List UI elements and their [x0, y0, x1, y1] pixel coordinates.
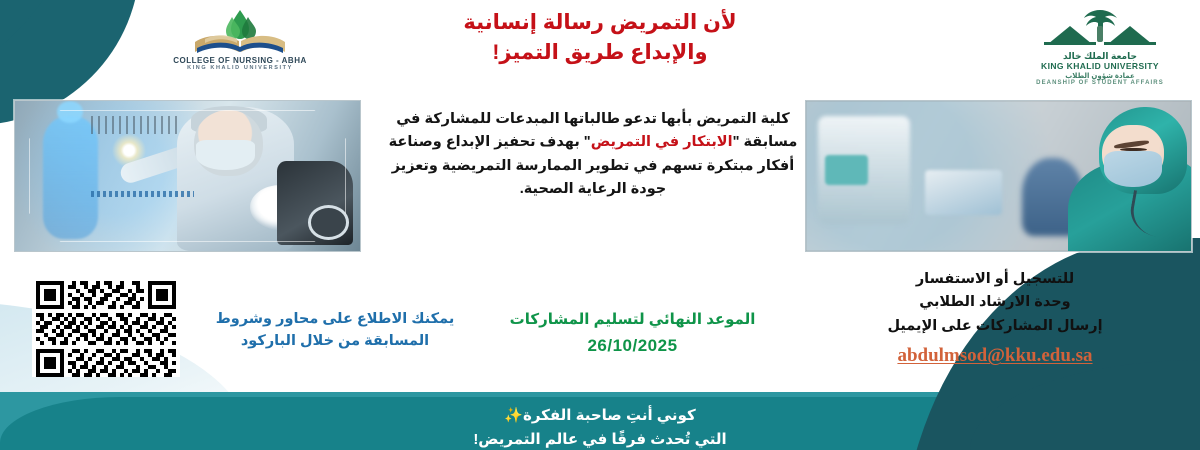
headline-line-1: لأن التمريض رسالة إنسانية [380, 8, 820, 38]
deadline-date: 26/10/2025 [500, 332, 765, 359]
body-highlight-competition-name: الابتكار في التمريض [591, 134, 733, 150]
footer-slogan: كوني أنتِ صاحبة الفكرة✨ التي تُحدث فرقًا… [0, 396, 1200, 450]
qr-code[interactable] [32, 277, 180, 382]
contact-block: للتسجيل أو الاستفسار وحدة الارشاد الطلاب… [845, 268, 1145, 372]
contact-line-2: وحدة الارشاد الطلابي [845, 291, 1145, 314]
qr-caption-line-2: المسابقة من خلال الباركود [195, 330, 475, 352]
headline: لأن التمريض رسالة إنسانية والإبداع طريق … [380, 8, 820, 69]
logo-kku-english-name: KING KHALID UNIVERSITY [1010, 62, 1190, 72]
photo-medical-technology [14, 100, 361, 252]
qr-caption: يمكنك الاطلاع على محاور وشروط المسابقة م… [195, 308, 475, 353]
logo-college-of-nursing: COLLEGE OF NURSING - ABHA KING KHALID UN… [150, 8, 330, 71]
logo-college-subtitle: KING KHALID UNIVERSITY [150, 65, 330, 71]
deadline-label: الموعد النهائي لتسليم المشاركات [500, 308, 765, 332]
body-paragraph: كلية التمريض بأبها تدعو طالباتها المبدعا… [383, 108, 803, 202]
logo-kku-arabic-dept: عمادة شؤون الطلاب [1010, 72, 1190, 80]
logo-king-khalid-university: جامعة الملك خالد KING KHALID UNIVERSITY … [1010, 8, 1190, 86]
deadline-block: الموعد النهائي لتسليم المشاركات 26/10/20… [500, 308, 765, 359]
qr-code-image[interactable] [32, 277, 180, 377]
logo-college-title: COLLEGE OF NURSING - ABHA [150, 56, 330, 65]
footer-line-1: كوني أنتِ صاحبة الفكرة✨ [0, 404, 1200, 428]
qr-caption-line-1: يمكنك الاطلاع على محاور وشروط [195, 308, 475, 330]
photo-nurse-hospital [805, 100, 1192, 252]
sparkles-icon: ✨ [504, 407, 523, 424]
nursing-flame-book-icon [185, 8, 295, 56]
footer-line-2: التي تُحدث فرقًا في عالم التمريض! [0, 428, 1200, 450]
poster-canvas: COLLEGE OF NURSING - ABHA KING KHALID UN… [0, 0, 1200, 450]
headline-line-2: والإبداع طريق التميز! [380, 38, 820, 68]
palm-tree-books-icon [1040, 8, 1160, 52]
contact-line-3: إرسال المشاركات على الإيميل [845, 315, 1145, 338]
contact-email-link[interactable]: abdulmsod@kku.edu.sa [845, 341, 1145, 372]
footer-line-1-text: كوني أنتِ صاحبة الفكرة [523, 407, 696, 424]
contact-line-1: للتسجيل أو الاستفسار [845, 268, 1145, 291]
logo-kku-english-dept: DEANSHIP OF STUDENT AFFAIRS [1010, 80, 1190, 86]
